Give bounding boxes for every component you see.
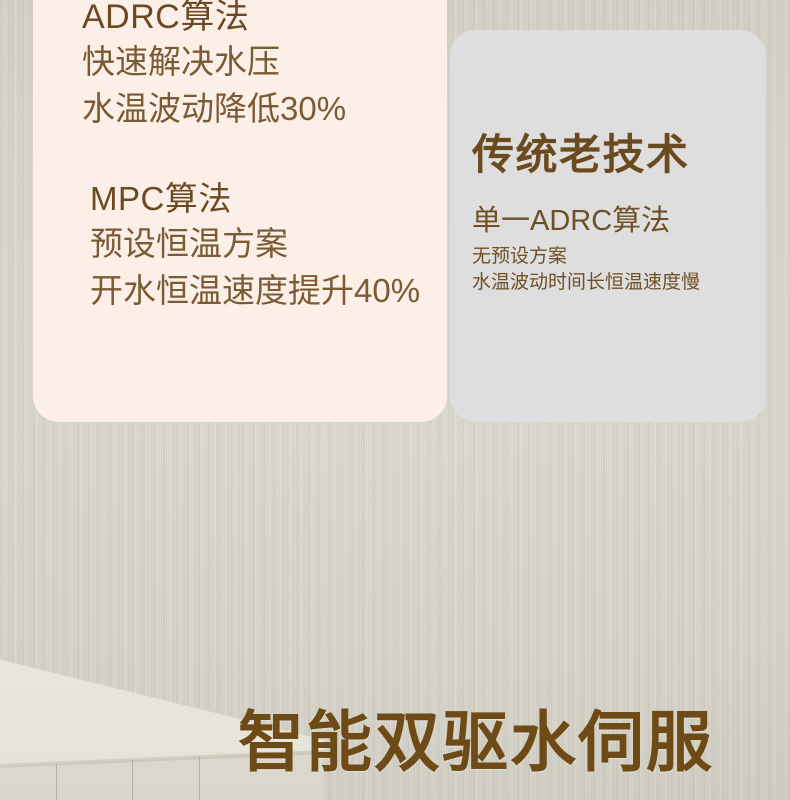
- adrc-heading: ADRC算法: [82, 0, 346, 38]
- adrc-detail-line: 水温波动降低30%: [82, 85, 346, 132]
- cabinet-door-seam: [56, 764, 57, 800]
- product-detail-scene: 智能双驱水伺服 ADRC算法 快速解决水压 水温波动降低30% MPC算法 预设…: [0, 0, 790, 800]
- traditional-detail-line: 无预设方案: [472, 244, 700, 270]
- mpc-detail-line: 开水恒温速度提升40%: [90, 267, 420, 314]
- mpc-heading: MPC算法: [90, 178, 420, 220]
- mpc-feature-group: MPC算法 预设恒温方案 开水恒温速度提升40%: [90, 178, 420, 314]
- cabinet-door-seam: [199, 757, 200, 800]
- traditional-title: 传统老技术: [472, 130, 700, 180]
- mpc-detail-line: 预设恒温方案: [90, 220, 420, 267]
- traditional-detail-line: 水温波动时间长恒温速度慢: [472, 270, 700, 296]
- traditional-technology-content: 传统老技术 单一ADRC算法 无预设方案 水温波动时间长恒温速度慢: [472, 130, 700, 296]
- traditional-subtitle: 单一ADRC算法: [472, 202, 700, 240]
- adrc-detail-line: 快速解决水压: [82, 38, 346, 85]
- adrc-feature-group: ADRC算法 快速解决水压 水温波动降低30%: [82, 0, 346, 132]
- new-technology-panel: 智能双驱水伺服 ADRC算法 快速解决水压 水温波动降低30% MPC算法 预设…: [33, 0, 447, 422]
- hero-headline: 智能双驱水伺服: [238, 702, 714, 782]
- cabinet-door-seam: [132, 760, 133, 800]
